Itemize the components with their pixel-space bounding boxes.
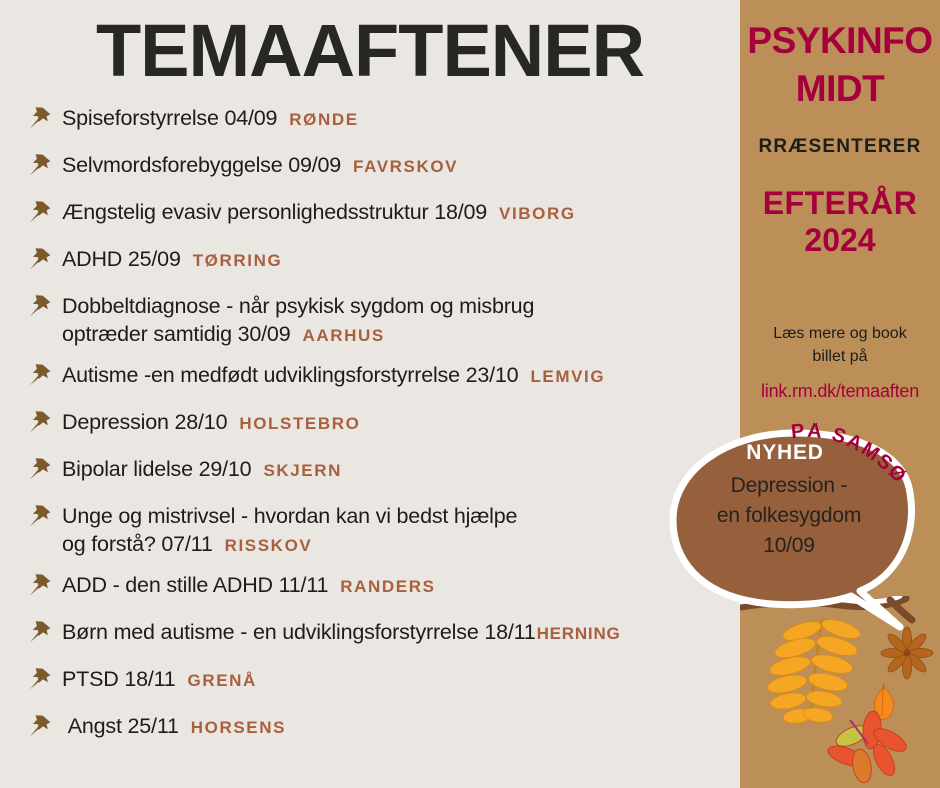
event-row[interactable]: ADHD 25/09TØRRING (0, 245, 760, 279)
event-title: Ængstelig evasiv personlighedsstruktur 1… (62, 200, 487, 224)
pushpin-icon (28, 713, 54, 739)
event-list: Spiseforstyrrelse 04/09RØNDESelvmordsfor… (0, 104, 760, 759)
event-row[interactable]: Depression 28/10HOLSTEBRO (0, 408, 760, 442)
event-row[interactable]: PTSD 18/11GRENÅ (0, 665, 760, 699)
event-row[interactable]: Angst 25/11HORSENS (0, 712, 760, 746)
event-title: Depression 28/10 (62, 410, 227, 434)
event-text: Depression 28/10HOLSTEBRO (62, 408, 360, 437)
event-title: Dobbeltdiagnose - når psykisk sygdom og … (62, 294, 534, 346)
season-year: 2024 (740, 222, 940, 259)
pushpin-icon (28, 293, 54, 319)
pushpin-icon (28, 572, 54, 598)
brand-name-line1: PSYKINFO (740, 22, 940, 59)
event-title: ADHD 25/09 (62, 247, 181, 271)
event-row[interactable]: Børn med autisme - en udviklingsforstyrr… (0, 618, 760, 652)
pushpin-icon (28, 105, 54, 131)
event-text: Unge og mistrivsel - hvordan kan vi beds… (62, 502, 517, 558)
event-row[interactable]: Unge og mistrivsel - hvordan kan vi beds… (0, 502, 760, 558)
event-title: Bipolar lidelse 29/10 (62, 457, 251, 481)
event-city: HERNING (537, 624, 621, 643)
event-text: Bipolar lidelse 29/10SKJERN (62, 455, 342, 484)
event-city: LEMVIG (530, 367, 605, 386)
news-speech-bubble: NYHED Depression - en folkesygdom 10/09 … (655, 415, 940, 650)
pushpin-icon (28, 246, 54, 272)
event-city: VIBORG (499, 204, 576, 223)
event-city: TØRRING (193, 251, 283, 270)
event-city: HOLSTEBRO (239, 414, 360, 433)
event-row[interactable]: Autisme -en medfødt udviklingsforstyrrel… (0, 361, 760, 395)
page-title: TEMAAFTENER (0, 8, 740, 93)
pushpin-icon (28, 152, 54, 178)
event-text: Børn med autisme - en udviklingsforstyrr… (62, 618, 621, 647)
pushpin-icon (28, 456, 54, 482)
event-city: RØNDE (289, 110, 358, 129)
event-city: GRENÅ (188, 671, 257, 690)
maple-leaf (825, 710, 909, 784)
pushpin-icon (28, 666, 54, 692)
brand-name-line2: MIDT (740, 70, 940, 107)
pushpin-icon (28, 503, 54, 529)
event-row[interactable]: Selvmordsforebyggelse 09/09FAVRSKOV (0, 151, 760, 185)
event-text: Autisme -en medfødt udviklingsforstyrrel… (62, 361, 605, 390)
booking-instructions: Læs mere og book billet på (746, 322, 934, 368)
event-row[interactable]: Bipolar lidelse 29/10SKJERN (0, 455, 760, 489)
bubble-line-2: en folkesygdom (655, 501, 923, 531)
event-text: PTSD 18/11GRENÅ (62, 665, 257, 694)
event-title: ADD - den stille ADHD 11/11 (62, 573, 328, 597)
pushpin-icon (28, 362, 54, 388)
event-title: Spiseforstyrrelse 04/09 (62, 106, 277, 130)
samso-arc-label: PÅ SAMSØ (785, 423, 925, 503)
event-title: Autisme -en medfødt udviklingsforstyrrel… (62, 363, 518, 387)
event-row[interactable]: ADD - den stille ADHD 11/11RANDERS (0, 571, 760, 605)
event-text: Dobbeltdiagnose - når psykisk sygdom og … (62, 292, 534, 348)
event-city: HORSENS (191, 718, 286, 737)
poster-canvas: PSYKINFO MIDT RRÆSENTERER EFTERÅR 2024 L… (0, 0, 940, 788)
event-text: Angst 25/11HORSENS (62, 712, 286, 741)
season-label: EFTERÅR (740, 185, 940, 222)
event-text: Selvmordsforebyggelse 09/09FAVRSKOV (62, 151, 458, 180)
event-text: ADD - den stille ADHD 11/11RANDERS (62, 571, 436, 600)
pushpin-icon (28, 619, 54, 645)
bubble-line-3: 10/09 (655, 531, 923, 561)
event-row[interactable]: Dobbeltdiagnose - når psykisk sygdom og … (0, 292, 760, 348)
presents-label: RRÆSENTERER (740, 136, 940, 158)
event-text: Ængstelig evasiv personlighedsstruktur 1… (62, 198, 576, 227)
samso-arc-text: PÅ SAMSØ (790, 423, 911, 488)
event-text: ADHD 25/09TØRRING (62, 245, 282, 274)
event-city: RISSKOV (225, 536, 313, 555)
pushpin-icon (28, 409, 54, 435)
event-row[interactable]: Spiseforstyrrelse 04/09RØNDE (0, 104, 760, 138)
event-text: Spiseforstyrrelse 04/09RØNDE (62, 104, 359, 133)
event-title: PTSD 18/11 (62, 667, 176, 691)
event-city: RANDERS (340, 577, 435, 596)
booking-link[interactable]: link.rm.dk/temaaften (740, 381, 940, 402)
event-city: FAVRSKOV (353, 157, 458, 176)
event-row[interactable]: Ængstelig evasiv personlighedsstruktur 1… (0, 198, 760, 232)
event-title: Angst 25/11 (62, 714, 179, 738)
event-title: Selvmordsforebyggelse 09/09 (62, 153, 341, 177)
pushpin-icon (28, 199, 54, 225)
event-city: AARHUS (302, 326, 384, 345)
event-city: SKJERN (263, 461, 342, 480)
event-title: Børn med autisme - en udviklingsforstyrr… (62, 620, 536, 644)
